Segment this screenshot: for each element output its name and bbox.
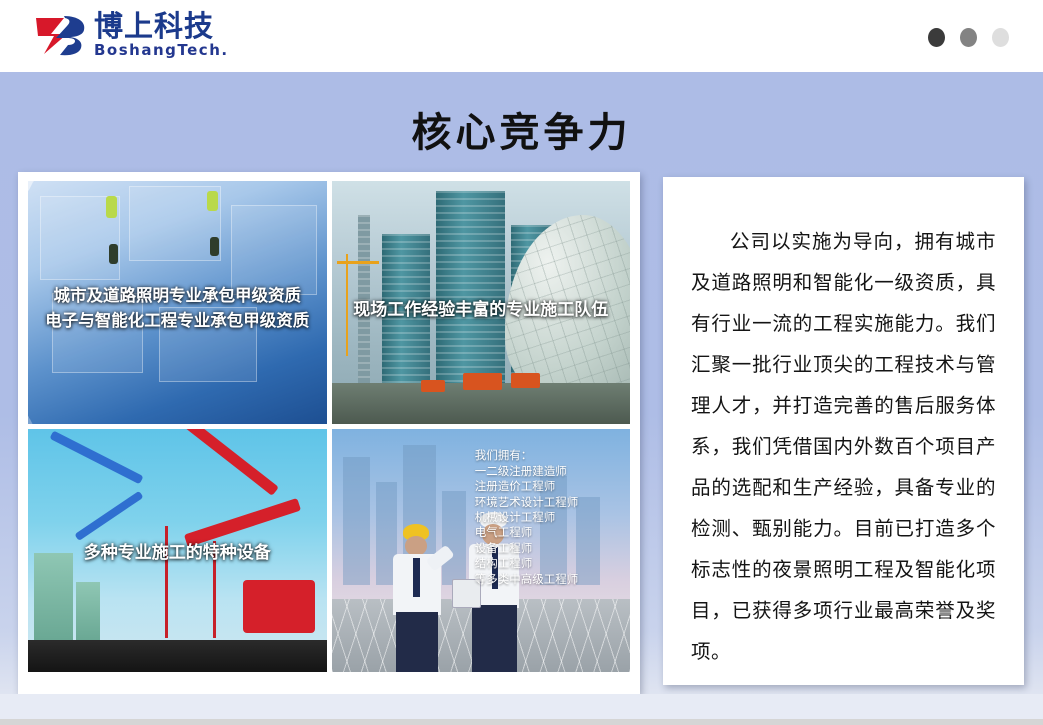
footer-divider bbox=[0, 719, 1043, 725]
credential-item: 设备工程师 bbox=[475, 541, 579, 556]
photo-grid: 城市及道路照明专业承包甲级资质 电子与智能化工程专业承包甲级资质 bbox=[28, 181, 630, 672]
app-header: 博上科技 BoshangTech. bbox=[0, 0, 1043, 72]
pagination-dot-3[interactable] bbox=[992, 28, 1009, 47]
engineers-image: 我们拥有： 一二级注册建造师 注册造价工程师 环境艺术设计工程师 机械设计工程师… bbox=[332, 429, 631, 672]
credential-item: 电气工程师 bbox=[475, 525, 579, 540]
credentials-list: 我们拥有： 一二级注册建造师 注册造价工程师 环境艺术设计工程师 机械设计工程师… bbox=[475, 448, 579, 587]
logo-chinese-name: 博上科技 bbox=[94, 12, 229, 41]
photo-gallery-card: 城市及道路照明专业承包甲级资质 电子与智能化工程专业承包甲级资质 bbox=[18, 172, 640, 694]
photo-cell-glass-facade[interactable]: 城市及道路照明专业承包甲级资质 电子与智能化工程专业承包甲级资质 bbox=[28, 181, 327, 424]
photo-caption-2: 现场工作经验丰富的专业施工队伍 bbox=[332, 295, 631, 320]
description-text: 公司以实施为导向，拥有城市及道路照明和智能化一级资质，具有行业一流的工程实施能力… bbox=[691, 221, 996, 672]
credential-item: 等多类中高级工程师 bbox=[475, 572, 579, 587]
page-title: 核心竞争力 bbox=[0, 100, 1043, 158]
credential-item: 注册造价工程师 bbox=[475, 479, 579, 494]
boshang-b-logo-icon bbox=[34, 12, 90, 58]
logo-english-name: BoshangTech. bbox=[94, 43, 229, 58]
credential-item: 机械设计工程师 bbox=[475, 510, 579, 525]
company-logo[interactable]: 博上科技 BoshangTech. bbox=[34, 12, 229, 58]
photo-caption-1: 城市及道路照明专业承包甲级资质 电子与智能化工程专业承包甲级资质 bbox=[28, 283, 327, 333]
credentials-heading: 我们拥有： bbox=[475, 448, 579, 463]
credential-item: 一二级注册建造师 bbox=[475, 464, 579, 479]
description-card: 公司以实施为导向，拥有城市及道路照明和智能化一级资质，具有行业一流的工程实施能力… bbox=[663, 177, 1024, 685]
slide-body: 核心竞争力 bbox=[0, 72, 1043, 694]
credential-item: 环境艺术设计工程师 bbox=[475, 495, 579, 510]
photo-cell-boom-lift[interactable]: 多种专业施工的特种设备 bbox=[28, 429, 327, 672]
slide-page: 博上科技 BoshangTech. 核心竞争力 bbox=[0, 0, 1043, 725]
credential-item: 结构工程师 bbox=[475, 556, 579, 571]
logo-wordmark: 博上科技 BoshangTech. bbox=[94, 12, 229, 58]
photo-caption-3: 多种专业施工的特种设备 bbox=[28, 538, 327, 563]
footer-strip bbox=[0, 694, 1043, 725]
slide-pagination-dots[interactable] bbox=[928, 28, 1009, 47]
photo-cell-engineers[interactable]: 我们拥有： 一二级注册建造师 注册造价工程师 环境艺术设计工程师 机械设计工程师… bbox=[332, 429, 631, 672]
engineer-yellow-helmet bbox=[379, 521, 457, 672]
photo-cell-city-skyline[interactable]: 现场工作经验丰富的专业施工队伍 bbox=[332, 181, 631, 424]
pagination-dot-2[interactable] bbox=[960, 28, 977, 47]
pagination-dot-1[interactable] bbox=[928, 28, 945, 47]
